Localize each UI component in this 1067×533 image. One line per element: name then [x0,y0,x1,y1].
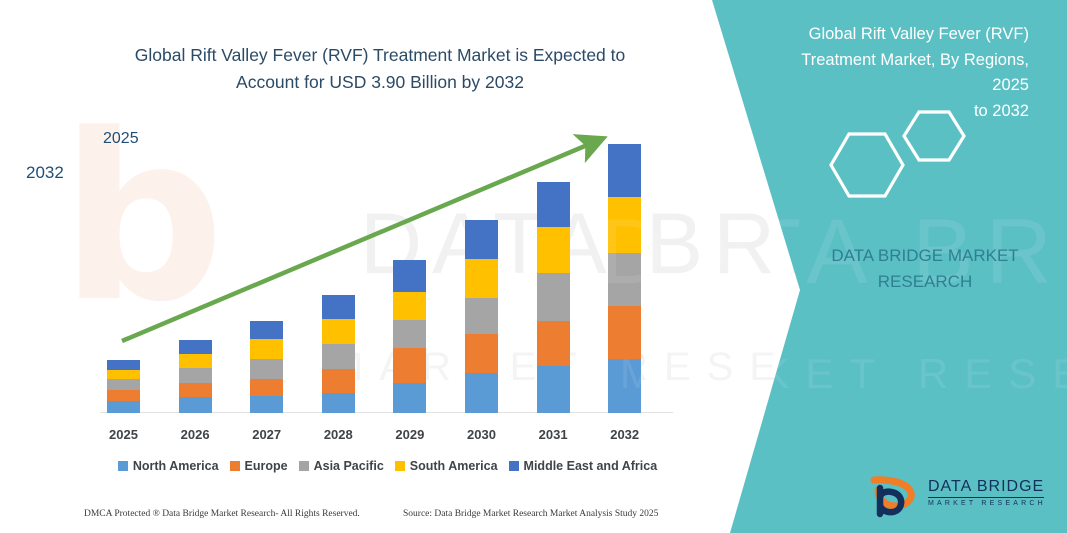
panel-watermark-market-research: MARKET RESEARCH [620,350,1067,398]
panel-heading-line2: Treatment Market, By Regions, 2025 [801,51,1029,95]
hexagon-outlines [822,108,1002,208]
data-bridge-logo: DATA BRIDGE MARKET RESEARCH [868,476,1058,520]
hexagon-label-2032: 2032 [26,163,64,183]
year-hexagon-badges [822,108,1002,208]
panel-brand-name: DATA BRIDGE MARKET RESEARCH [790,243,1060,294]
logo-tagline: MARKET RESEARCH [928,500,1046,507]
hexagon-2032-shape [831,134,903,196]
logo-text: DATA BRIDGE MARKET RESEARCH [928,478,1046,507]
panel-brand-line2: RESEARCH [878,272,972,291]
hexagon-2025-shape [904,112,964,160]
logo-name: DATA BRIDGE [928,478,1044,498]
panel-brand-line1: DATA BRIDGE MARKET [831,246,1018,265]
infographic-canvas: b DATA BRIDGE MARKET RESEARCH Global Rif… [0,0,1067,533]
hexagon-label-2025: 2025 [103,130,139,148]
logo-mark-icon [868,476,924,518]
panel-heading-line1: Global Rift Valley Fever (RVF) [809,25,1029,43]
